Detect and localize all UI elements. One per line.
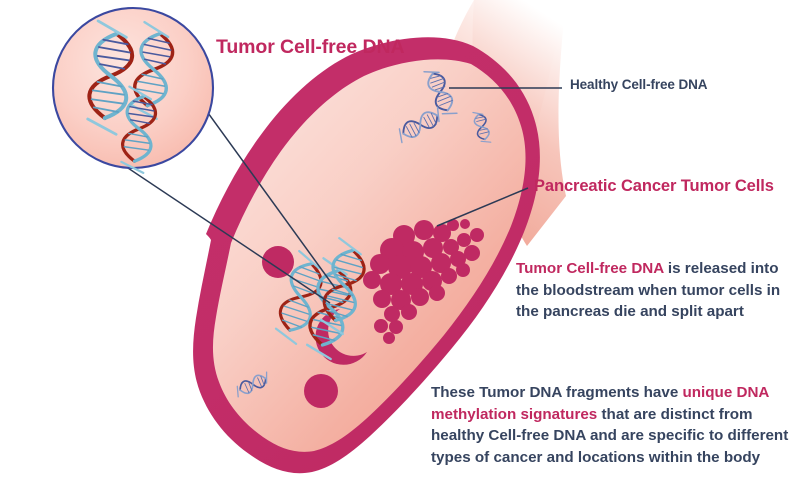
solid-cell bbox=[304, 374, 338, 408]
magnified-tumor-dna-inset bbox=[53, 8, 213, 173]
paragraph-methylation-signatures: These Tumor DNA fragments have unique DN… bbox=[431, 382, 796, 468]
illustration-canvas: Tumor Cell-free DNA Healthy Cell-free DN… bbox=[0, 0, 800, 493]
paragraph-released-highlight: Tumor Cell-free DNA bbox=[516, 260, 664, 277]
paragraph-tumor-dna-released: Tumor Cell-free DNA is released into the… bbox=[516, 258, 794, 323]
solid-cell bbox=[262, 246, 294, 278]
label-healthy-cell-free-dna: Healthy Cell-free DNA bbox=[570, 77, 707, 92]
paragraph-methylation-lead: These Tumor DNA fragments have bbox=[431, 384, 683, 401]
label-tumor-cell-free-dna: Tumor Cell-free DNA bbox=[216, 36, 404, 59]
label-pancreatic-cancer-tumor-cells: Pancreatic Cancer Tumor Cells bbox=[534, 177, 774, 196]
